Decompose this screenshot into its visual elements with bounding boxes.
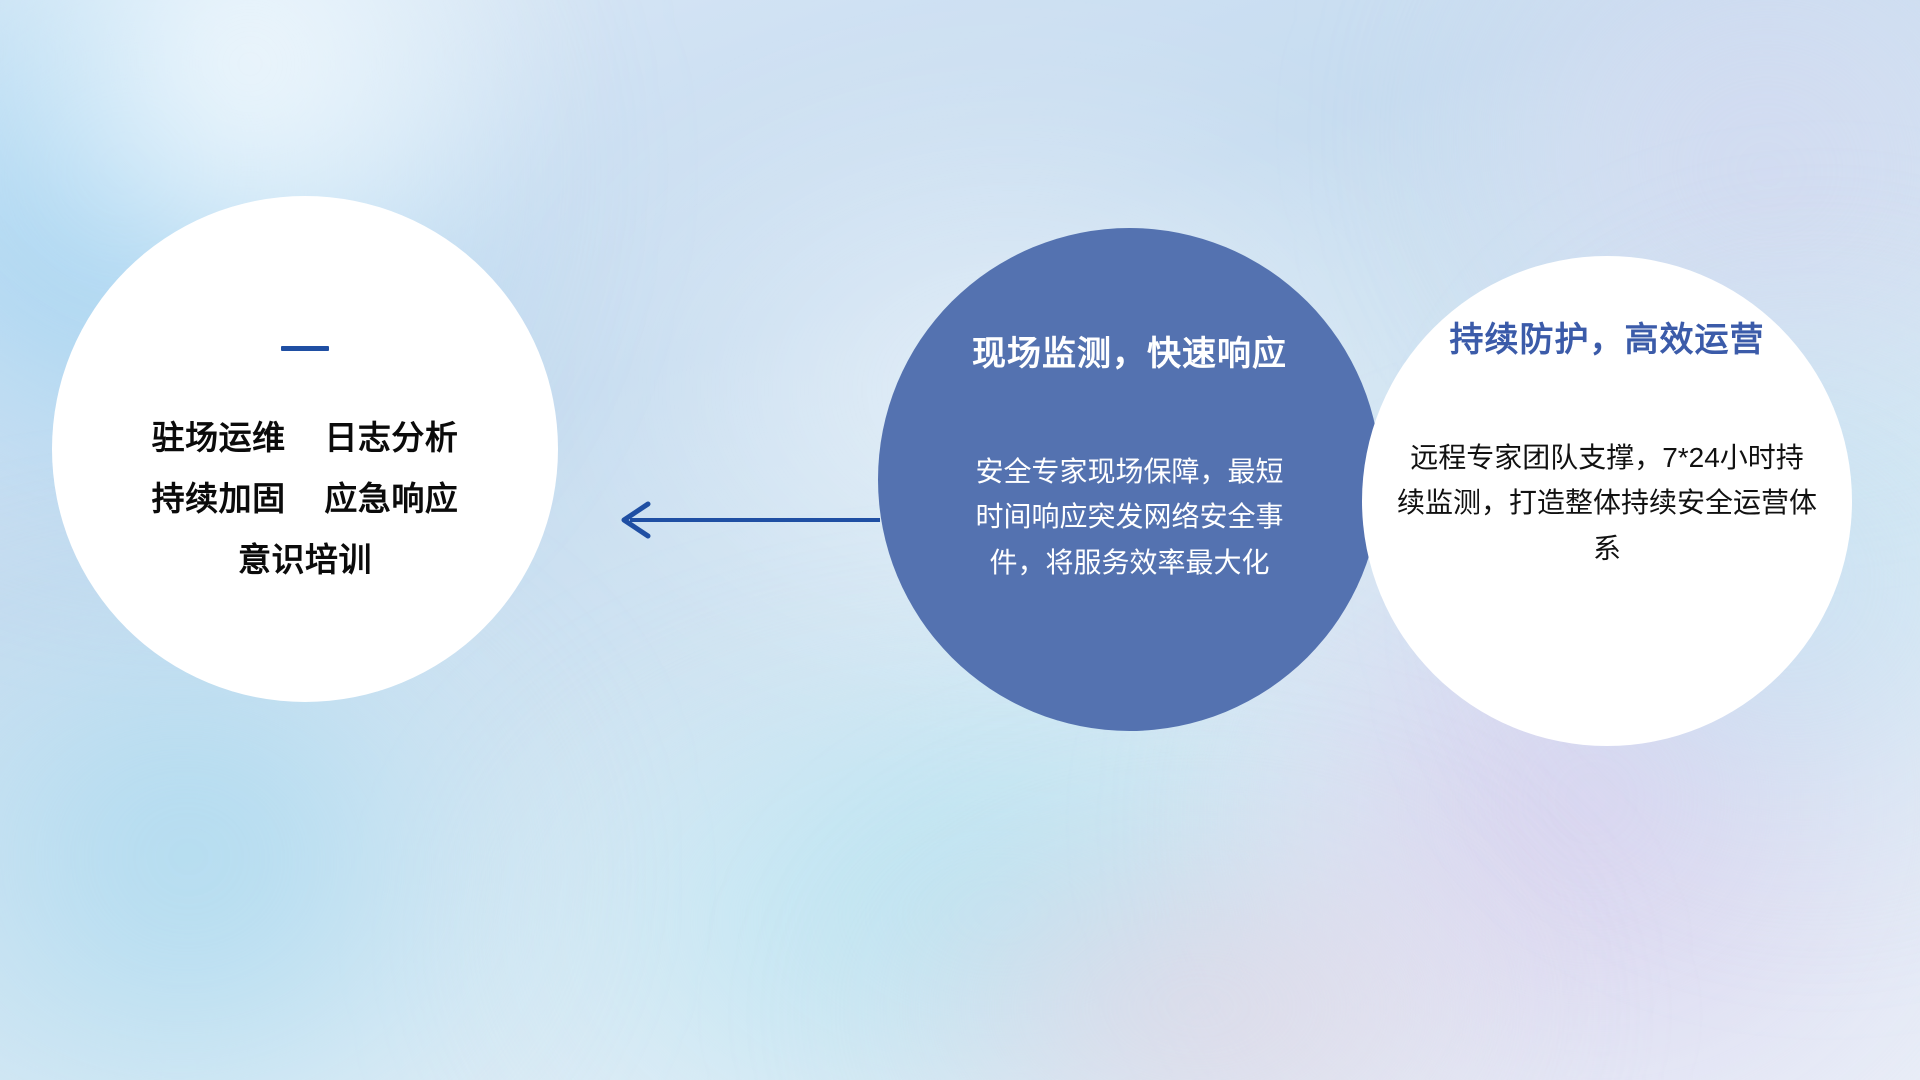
onsite-monitoring-title: 现场监测，快速响应 <box>972 326 1287 375</box>
capability-line: 意识培训 <box>152 529 459 590</box>
onsite-monitoring-body: 安全专家现场保障，最短时间响应突发网络安全事件，将服务效率最大化 <box>965 449 1295 585</box>
capability-line: 驻场运维 日志分析 <box>152 407 459 468</box>
slide-canvas: 驻场运维 日志分析 持续加固 应急响应 意识培训 现场监测，快速响应 安全专家现… <box>0 0 1920 1080</box>
onsite-monitoring-content: 现场监测，快速响应 安全专家现场保障，最短时间响应突发网络安全事件，将服务效率最… <box>878 326 1381 585</box>
capability-circle-content: 驻场运维 日志分析 持续加固 应急响应 意识培训 <box>52 346 558 590</box>
onsite-monitoring-circle: 现场监测，快速响应 安全专家现场保障，最短时间响应突发网络安全事件，将服务效率最… <box>878 228 1381 731</box>
continuous-protection-content: 持续防护，高效运营 远程专家团队支撑，7*24小时持续监测，打造整体持续安全运营… <box>1362 312 1852 571</box>
capability-list: 驻场运维 日志分析 持续加固 应急响应 意识培训 <box>152 407 459 590</box>
capability-line: 持续加固 应急响应 <box>152 468 459 529</box>
left-arrow-connector <box>600 496 880 544</box>
continuous-protection-circle: 持续防护，高效运营 远程专家团队支撑，7*24小时持续监测，打造整体持续安全运营… <box>1362 256 1852 746</box>
capability-circle: 驻场运维 日志分析 持续加固 应急响应 意识培训 <box>52 196 558 702</box>
continuous-protection-title: 持续防护，高效运营 <box>1450 312 1765 361</box>
continuous-protection-body: 远程专家团队支撑，7*24小时持续监测，打造整体持续安全运营体系 <box>1397 435 1817 571</box>
accent-rule-divider <box>281 346 329 351</box>
